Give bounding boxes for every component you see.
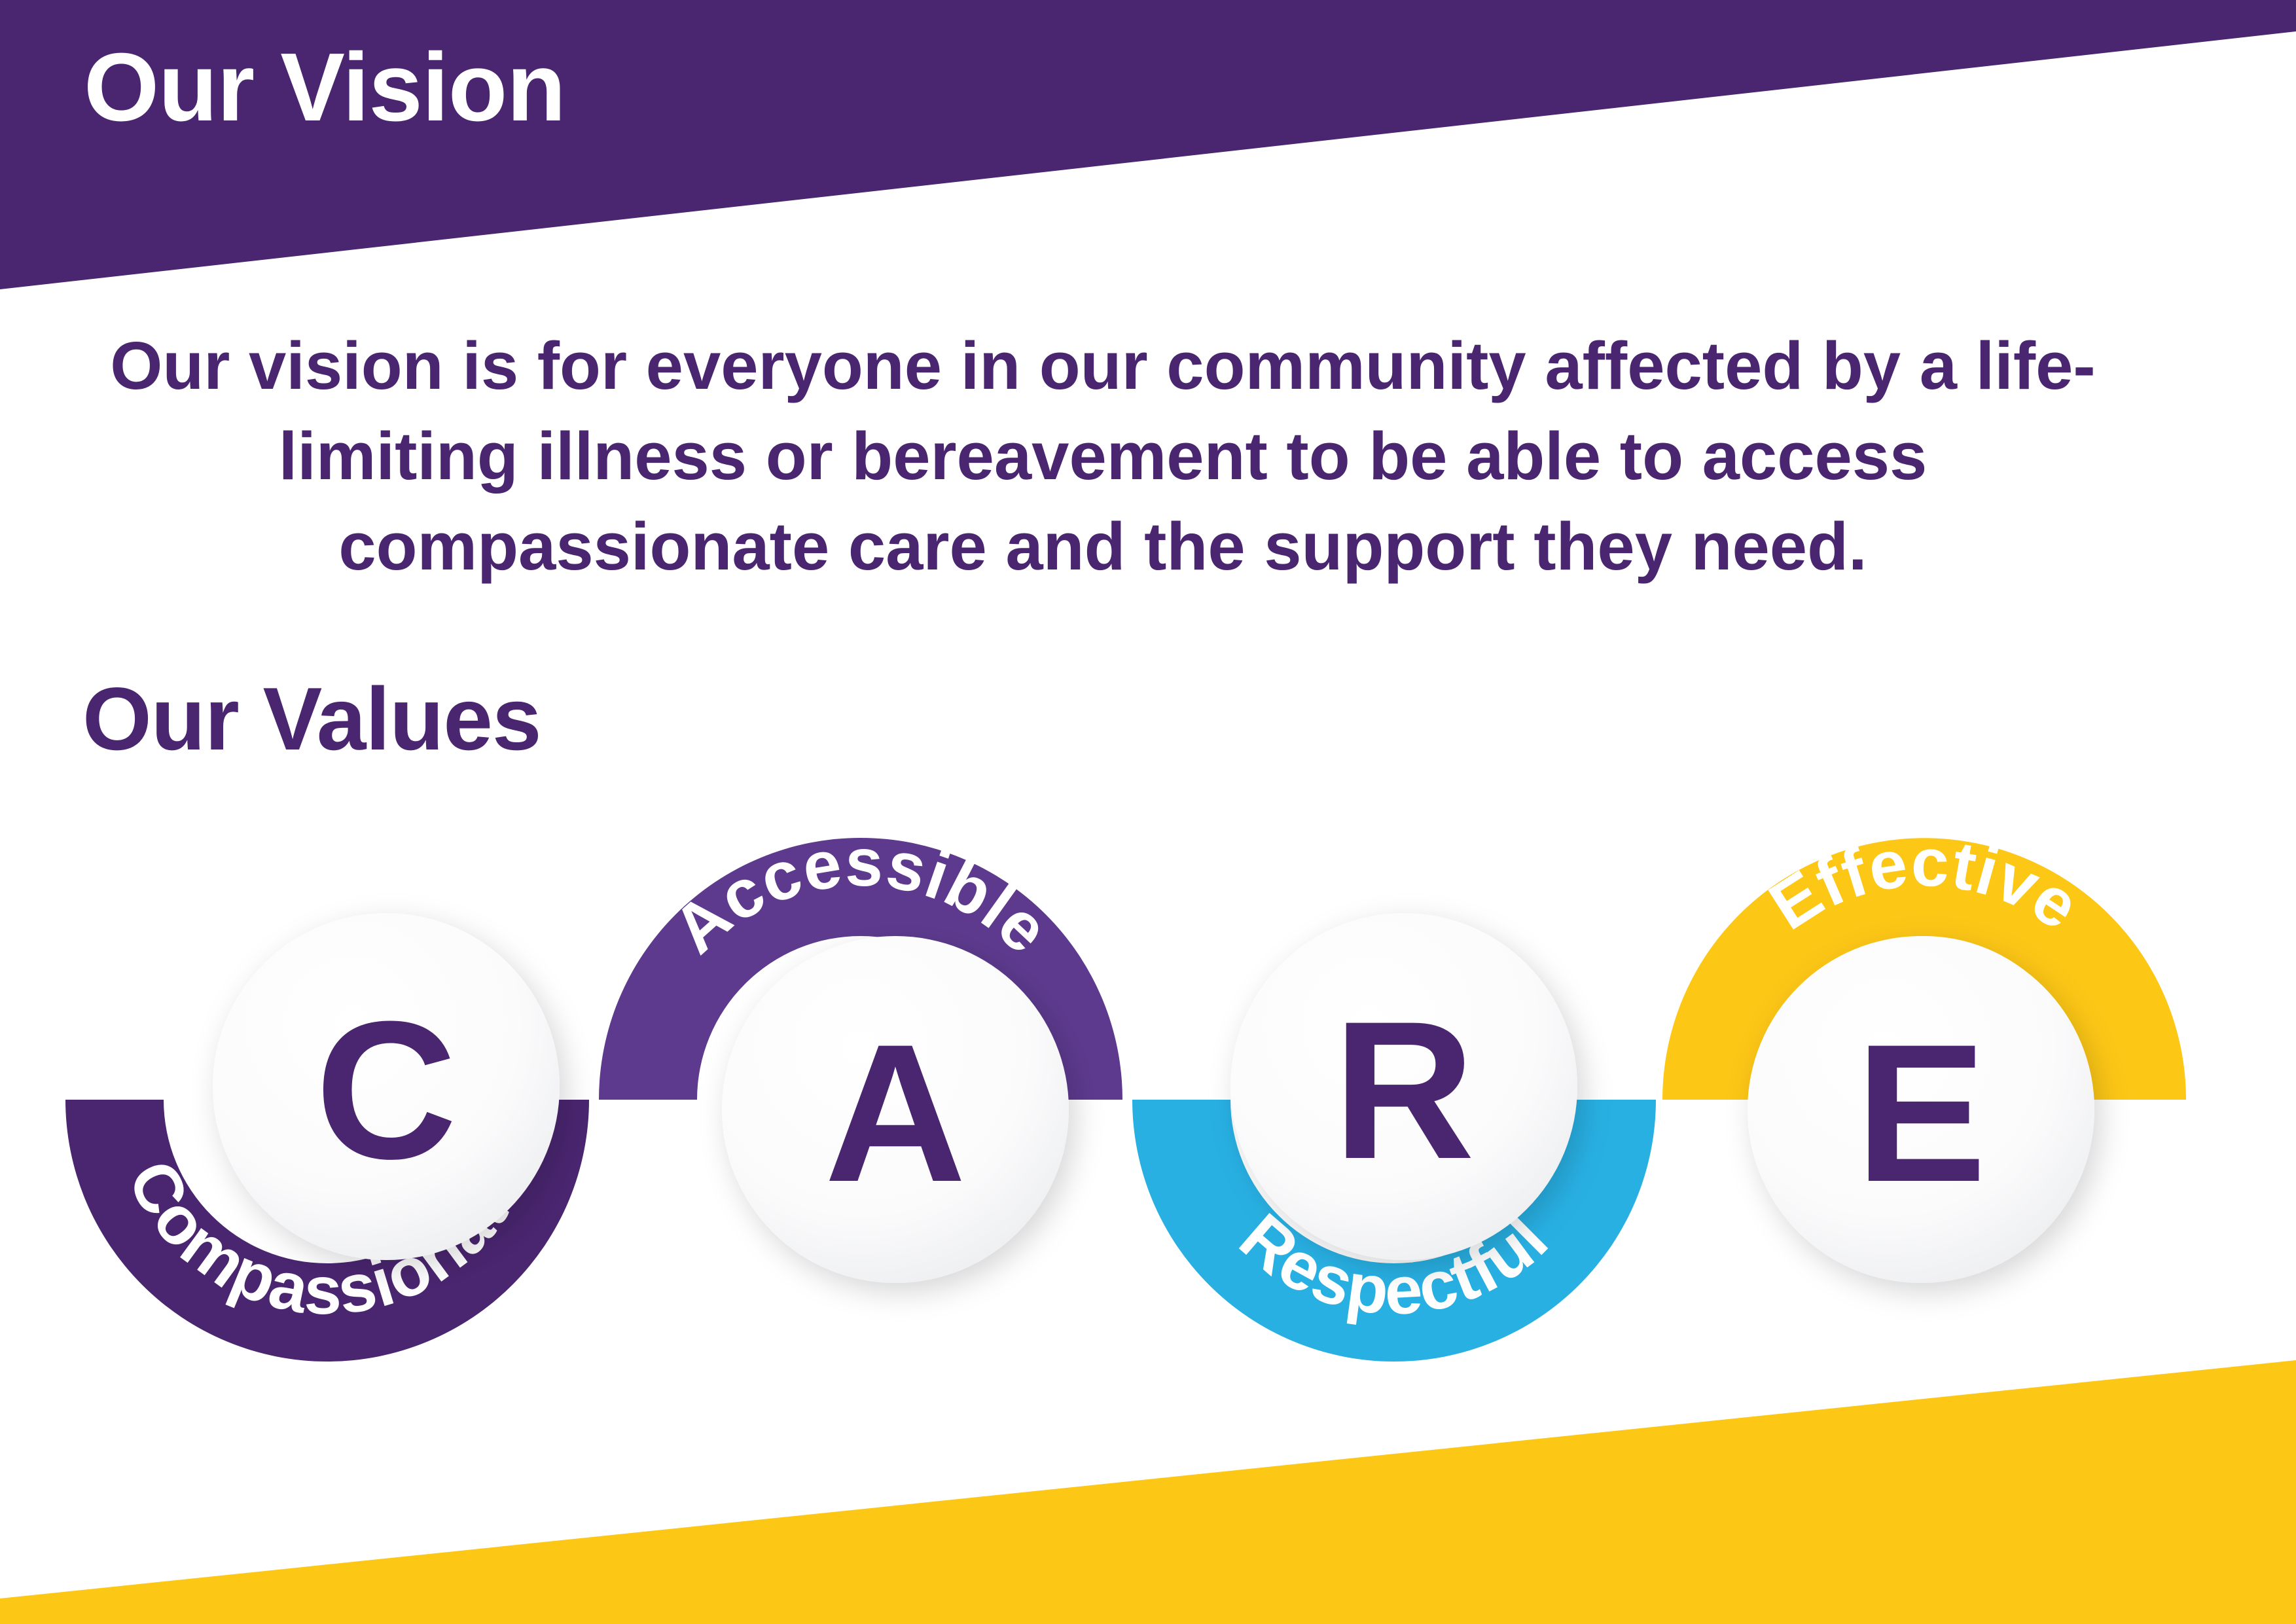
page-title: Our Vision <box>84 37 565 138</box>
vision-paragraph: Our vision is for everyone in our commun… <box>79 321 2127 592</box>
value-disc-a: A <box>722 936 1069 1283</box>
value-letter-c: C <box>315 980 457 1200</box>
value-letter-a: A <box>825 1003 967 1223</box>
poster-canvas: Our Vision Our vision is for everyone in… <box>0 0 2296 1624</box>
value-letter-e: E <box>1856 1003 1986 1223</box>
value-disc-r: R <box>1230 913 1577 1260</box>
value-disc-c: C <box>213 913 560 1260</box>
value-letter-r: R <box>1333 980 1475 1200</box>
value-disc-e: E <box>1748 936 2094 1283</box>
care-values-diagram: Compassionate Accessible Respectful <box>0 753 2296 1407</box>
